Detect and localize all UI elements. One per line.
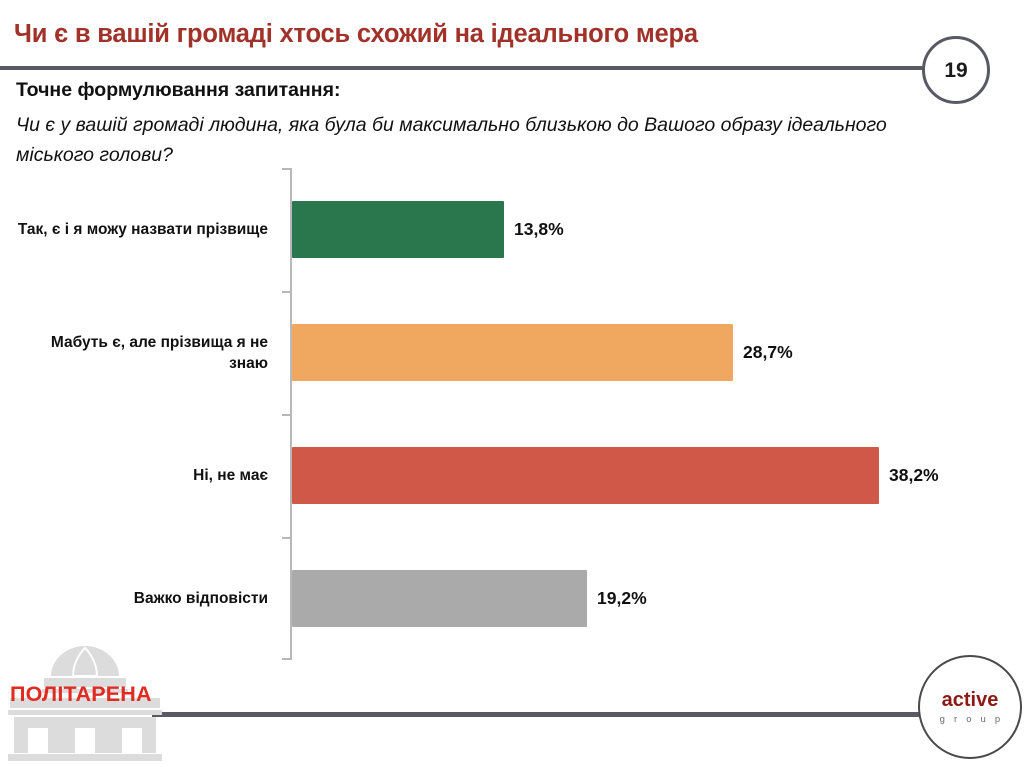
bar-value-label: 38,2% xyxy=(879,447,939,504)
page-number-label: 19 xyxy=(944,60,967,81)
group-wordmark: g r o u p xyxy=(937,714,1004,725)
active-group-logo: active g r o u p xyxy=(918,655,1022,759)
bar-value-label: 28,7% xyxy=(733,324,793,381)
politarena-wordmark: ПОЛІТАРЕНА xyxy=(10,682,152,707)
slide: Чи є в вашій громаді хтось схожий на іде… xyxy=(0,0,1024,762)
question-label: Точне формулювання запитання: xyxy=(16,79,340,102)
question-text: Чи є у вашій громаді людина, яка була би… xyxy=(16,110,946,170)
bar-value-label: 13,8% xyxy=(504,201,564,258)
category-label: Ні, не має xyxy=(10,414,282,537)
politarena-logo: ПОЛІТАРЕНА xyxy=(6,642,164,762)
page-number-badge: 19 xyxy=(922,36,990,104)
bar-segment xyxy=(292,324,733,381)
category-label: Мабуть є, але прізвища я не знаю xyxy=(10,291,282,414)
page-title: Чи є в вашій громаді хтось схожий на іде… xyxy=(14,20,894,49)
footer-divider xyxy=(152,712,936,717)
category-label: Так, є і я можу назвати прізвище xyxy=(10,168,282,291)
chart-row: Ні, не має 38,2% xyxy=(0,414,1024,537)
bar-segment xyxy=(292,570,587,627)
chart-row: Так, є і я можу назвати прізвище 13,8% xyxy=(0,168,1024,291)
bar-chart: Так, є і я можу назвати прізвище 13,8% М… xyxy=(0,168,1024,668)
bar-segment xyxy=(292,447,879,504)
active-wordmark: active xyxy=(942,690,999,710)
chart-row: Мабуть є, але прізвища я не знаю 28,7% xyxy=(0,291,1024,414)
bar-segment xyxy=(292,201,504,258)
bar-value-label: 19,2% xyxy=(587,570,647,627)
header-divider xyxy=(0,66,938,70)
